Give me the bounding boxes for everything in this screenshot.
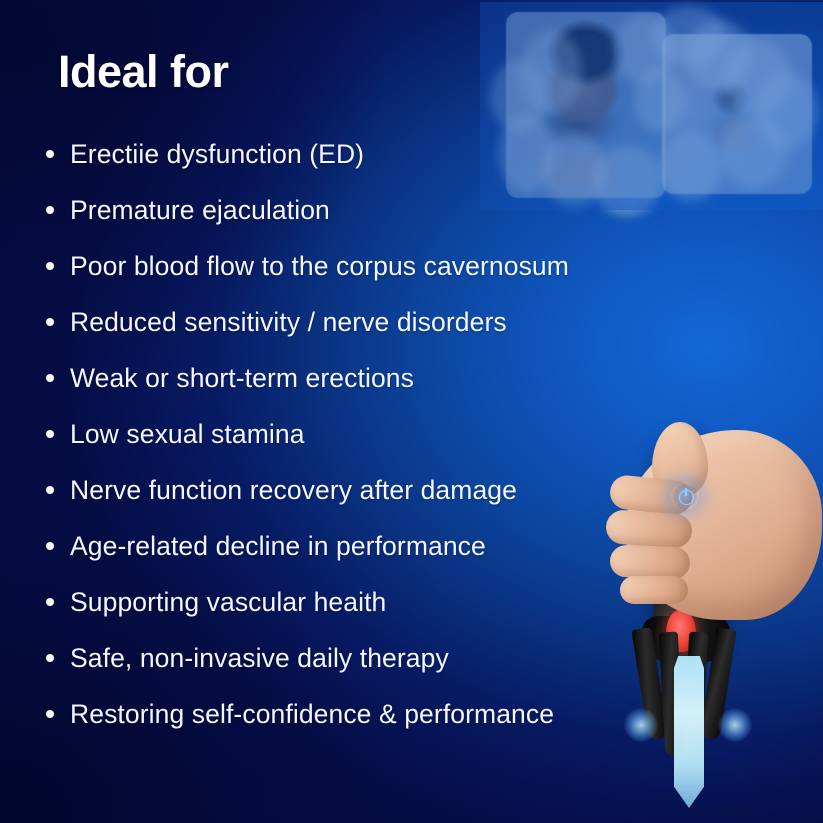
list-item: Poor blood flow to the corpus cavernosum xyxy=(44,238,624,294)
list-item-label: Age-related decline in performance xyxy=(70,531,486,561)
text-content: Ideal for Erectiie dysfunction (ED)Prema… xyxy=(0,0,640,823)
list-item: Restoring self-confidence & performance xyxy=(44,686,624,742)
page-title: Ideal for xyxy=(58,46,229,98)
list-item: Premature ejaculation xyxy=(44,182,624,238)
benefits-list: Erectiie dysfunction (ED)Premature ejacu… xyxy=(44,126,624,742)
bullet-dot-icon xyxy=(46,206,54,214)
list-item: Erectiie dysfunction (ED) xyxy=(44,126,624,182)
bullet-dot-icon xyxy=(46,262,54,270)
bullet-dot-icon xyxy=(46,710,54,718)
list-item-label: Restoring self-confidence & performance xyxy=(70,699,554,729)
bullet-dot-icon xyxy=(46,150,54,158)
list-item-label: Weak or short-term erections xyxy=(70,363,414,393)
energy-spark xyxy=(718,708,752,742)
bullet-dot-icon xyxy=(46,654,54,662)
list-item-label: Poor blood flow to the corpus cavernosum xyxy=(70,251,569,281)
bullet-dot-icon xyxy=(46,374,54,382)
list-item-label: Nerve function recovery after damage xyxy=(70,475,517,505)
bullet-dot-icon xyxy=(46,486,54,494)
list-item-label: Erectiie dysfunction (ED) xyxy=(70,139,364,169)
list-item: Nerve function recovery after damage xyxy=(44,462,624,518)
list-item: Safe, non-invasive daily therapy xyxy=(44,630,624,686)
bullet-dot-icon xyxy=(46,430,54,438)
power-glyph xyxy=(679,490,694,505)
list-item: Reduced sensitivity / nerve disorders xyxy=(44,294,624,350)
list-item: Age-related decline in performance xyxy=(44,518,624,574)
energy-beam xyxy=(674,656,704,808)
list-item: Supporting vascular heaith xyxy=(44,574,624,630)
list-item-label: Premature ejaculation xyxy=(70,195,330,225)
bullet-dot-icon xyxy=(46,542,54,550)
bullet-dot-icon xyxy=(46,598,54,606)
list-item-label: Supporting vascular heaith xyxy=(70,587,386,617)
ideal-for-poster: Ideal for Erectiie dysfunction (ED)Prema… xyxy=(0,0,823,823)
list-item-label: Reduced sensitivity / nerve disorders xyxy=(70,307,507,337)
list-item-label: Low sexual stamina xyxy=(70,419,305,449)
bullet-dot-icon xyxy=(46,318,54,326)
list-item: Low sexual stamina xyxy=(44,406,624,462)
list-item: Weak or short-term erections xyxy=(44,350,624,406)
list-item-label: Safe, non-invasive daily therapy xyxy=(70,643,449,673)
power-icon xyxy=(671,482,699,510)
